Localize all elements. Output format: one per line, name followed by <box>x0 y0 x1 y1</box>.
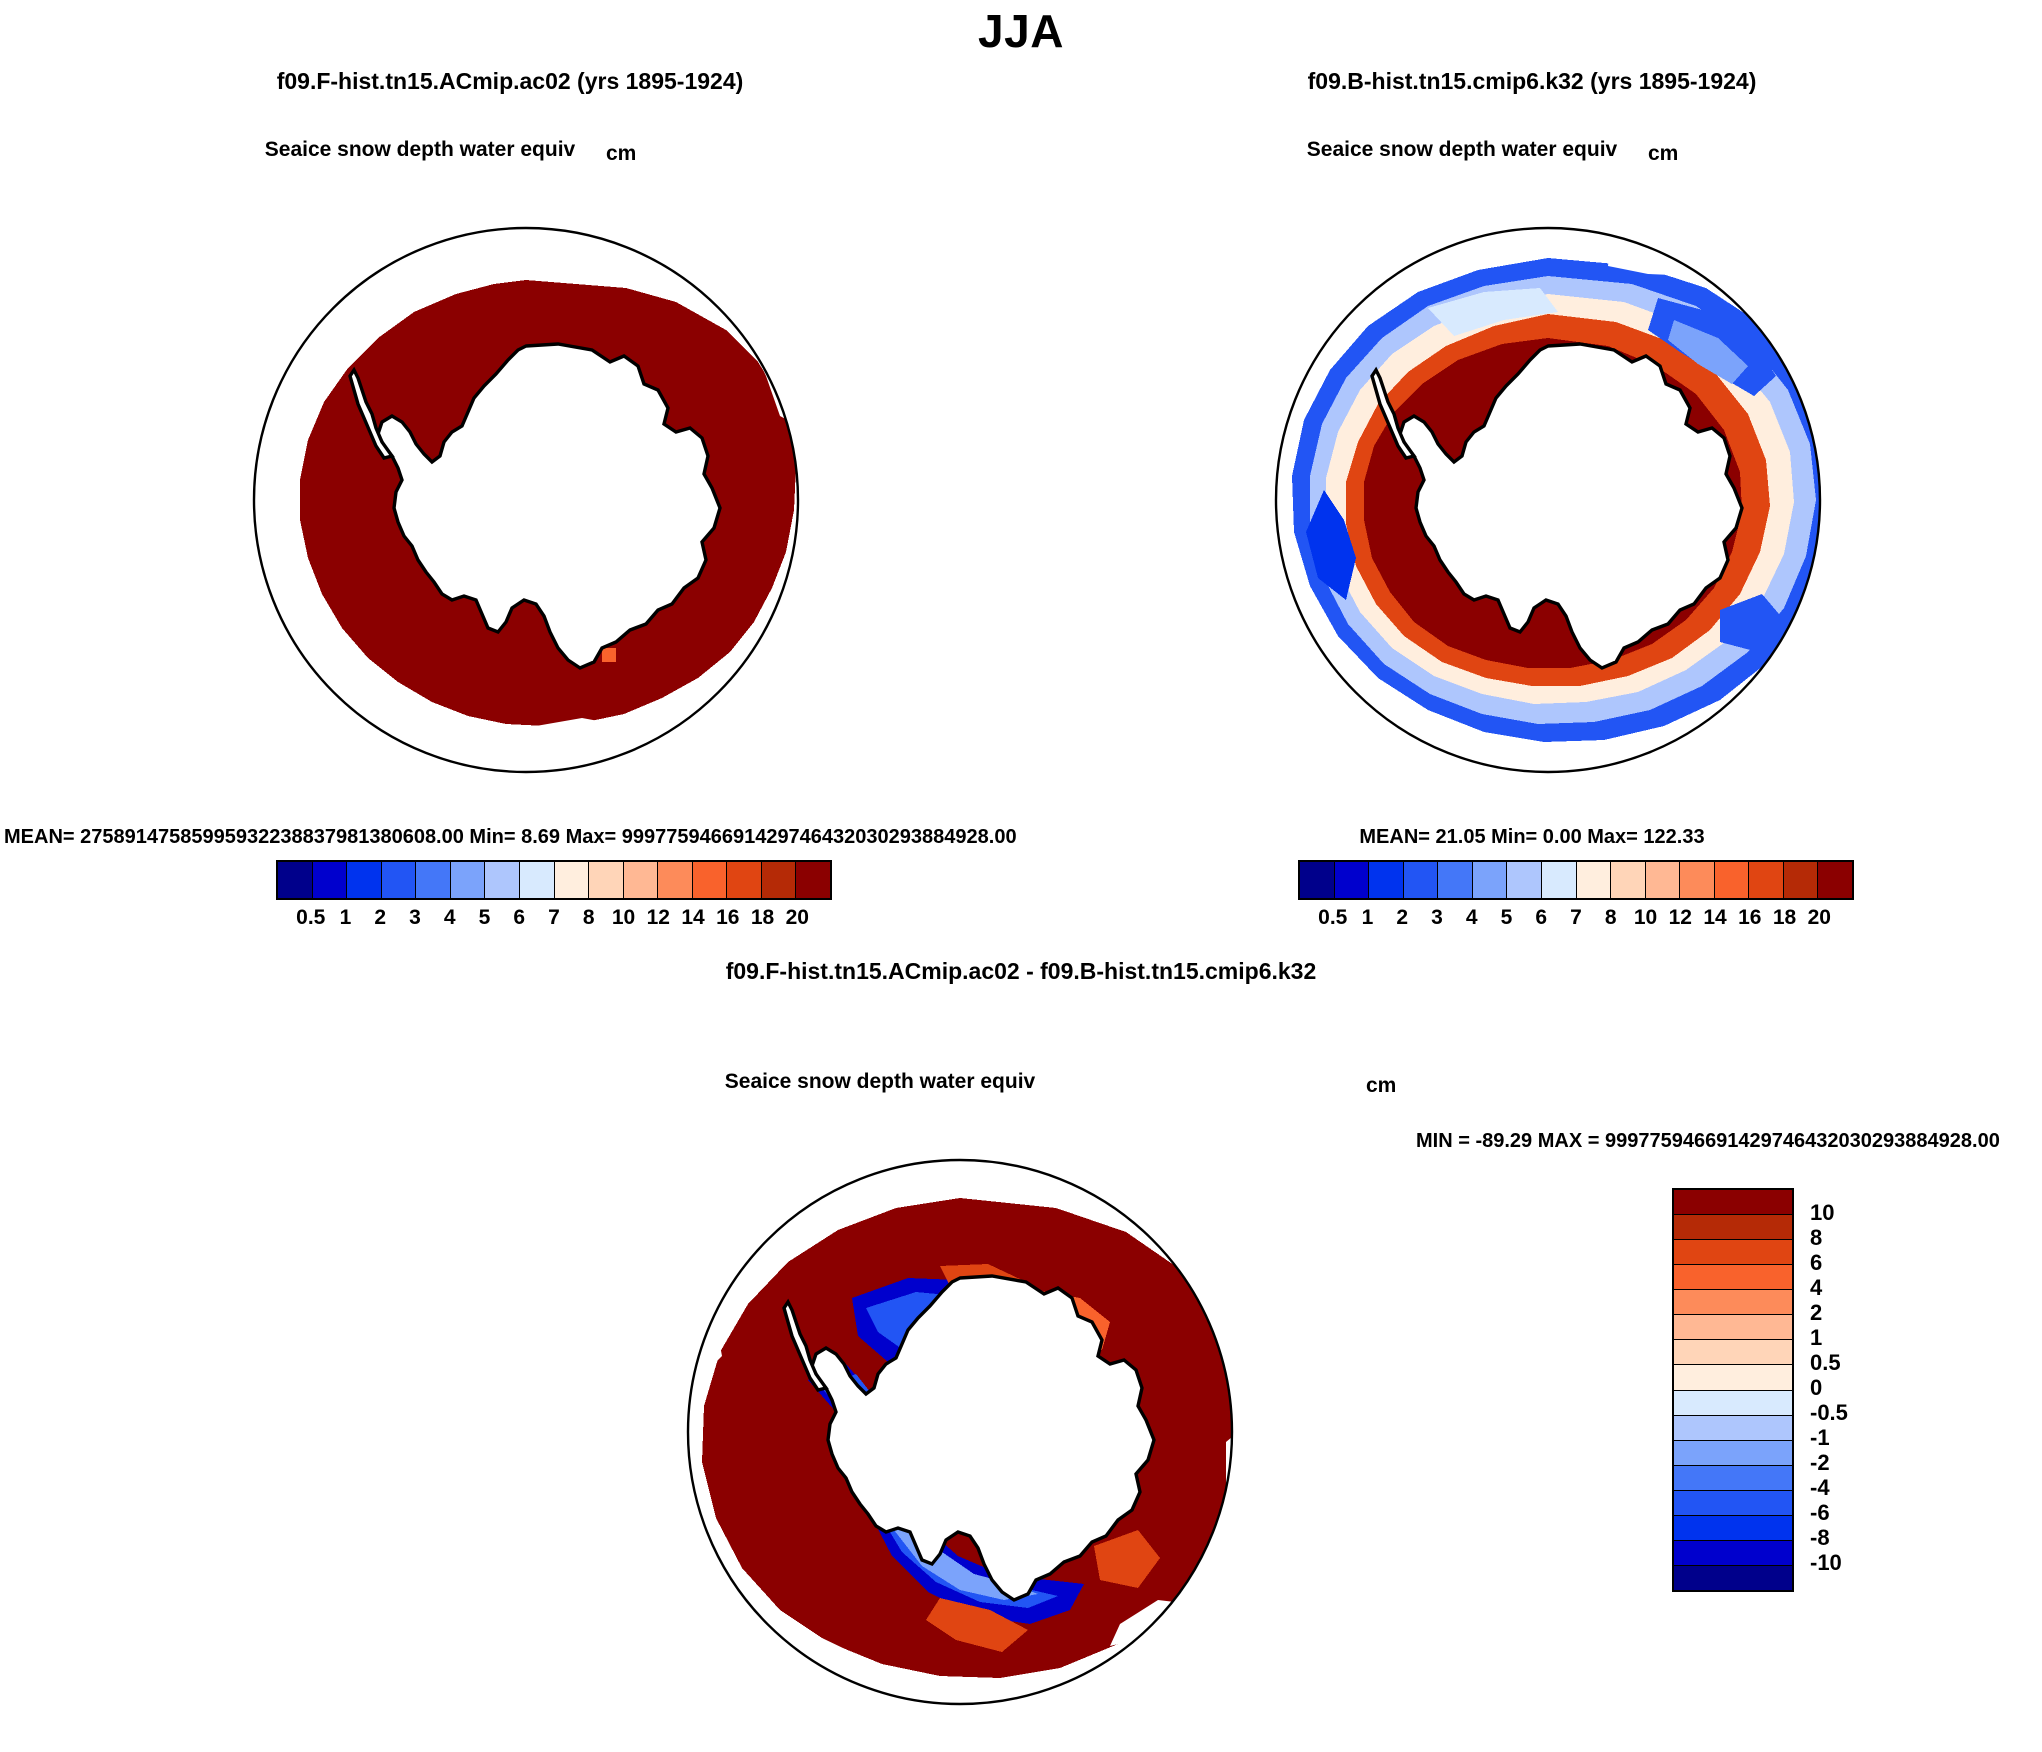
colorbar-tick-label: 5 <box>479 906 491 930</box>
colorbar-tick-label: 4 <box>1466 906 1478 930</box>
panel-left-variable-label: Seaice snow depth water equiv <box>20 138 820 162</box>
colorbar-cell <box>658 862 693 898</box>
panel-left-stats: MEAN= 27589147585995932238837981380608.0… <box>4 826 1017 849</box>
colorbar-cell <box>1335 862 1370 898</box>
colorbar-tick-label: 1 <box>340 906 352 930</box>
colorbar-tick-label: 14 <box>681 906 704 930</box>
colorbar-cell <box>1300 862 1335 898</box>
colorbar-cell <box>1674 1416 1792 1441</box>
colorbar-cell <box>1674 1391 1792 1416</box>
colorbar-tick-label: 6 <box>1535 906 1547 930</box>
colorbar-cell <box>727 862 762 898</box>
colorbar-tick-label: 4 <box>444 906 456 930</box>
colorbar-tick-label: -1 <box>1810 1425 1830 1451</box>
panel-difference-stats: MIN = -89.29 MAX = 999775946691429746432… <box>1416 1130 2000 1153</box>
colorbar-tick-label: 3 <box>1431 906 1443 930</box>
colorbar-tick-label: 8 <box>583 906 595 930</box>
colorbar-cell <box>1542 862 1577 898</box>
colorbar-cell <box>555 862 590 898</box>
colorbar-tick-label: 1 <box>1810 1325 1822 1351</box>
colorbar-tick-label: -10 <box>1810 1550 1842 1576</box>
panel-left-colorbar[interactable]: 0.512345678101214161820 <box>276 860 832 936</box>
colorbar-tick-label: 0 <box>1810 1375 1822 1401</box>
panel-difference-map[interactable] <box>640 1112 1280 1752</box>
colorbar-cell <box>1404 862 1439 898</box>
colorbar-cell <box>624 862 659 898</box>
colorbar-tick-label: 14 <box>1703 906 1726 930</box>
colorbar-cell <box>451 862 486 898</box>
colorbar-cell <box>1674 1566 1792 1590</box>
colorbar-cell <box>1674 1190 1792 1215</box>
panel-left-colorbar-swatches <box>276 860 832 900</box>
panel-left: f09.F-hist.tn15.ACmip.ac02 (yrs 1895-192… <box>0 0 1020 940</box>
colorbar-cell <box>1674 1466 1792 1491</box>
colorbar-cell <box>796 862 830 898</box>
colorbar-cell <box>1438 862 1473 898</box>
colorbar-tick-label: 16 <box>1738 906 1761 930</box>
colorbar-cell <box>762 862 797 898</box>
panel-difference-colorbar-labels: 10864210.50-0.5-1-2-4-6-8-10 <box>1804 1188 1894 1588</box>
colorbar-tick-label: 5 <box>1501 906 1513 930</box>
colorbar-tick-label: 18 <box>751 906 774 930</box>
colorbar-tick-label: -4 <box>1810 1475 1830 1501</box>
colorbar-cell <box>1680 862 1715 898</box>
colorbar-tick-label: 8 <box>1605 906 1617 930</box>
panel-left-title: f09.F-hist.tn15.ACmip.ac02 (yrs 1895-192… <box>0 68 1020 95</box>
panel-difference-map-svg <box>640 1112 1280 1752</box>
panel-difference-title: f09.F-hist.tn15.ACmip.ac02 - f09.B-hist.… <box>0 958 2042 985</box>
panel-right-colorbar-labels: 0.512345678101214161820 <box>1298 906 1854 936</box>
colorbar-tick-label: -8 <box>1810 1525 1830 1551</box>
colorbar-cell <box>1749 862 1784 898</box>
colorbar-tick-label: 12 <box>1669 906 1692 930</box>
colorbar-cell <box>1577 862 1612 898</box>
colorbar-cell <box>520 862 555 898</box>
colorbar-tick-label: -2 <box>1810 1450 1830 1476</box>
colorbar-tick-label: 18 <box>1773 906 1796 930</box>
colorbar-cell <box>1674 1265 1792 1290</box>
colorbar-tick-label: 10 <box>1634 906 1657 930</box>
colorbar-cell <box>416 862 451 898</box>
colorbar-cell <box>347 862 382 898</box>
colorbar-cell <box>1646 862 1681 898</box>
colorbar-tick-label: 10 <box>612 906 635 930</box>
colorbar-cell <box>382 862 417 898</box>
colorbar-cell <box>1674 1541 1792 1566</box>
colorbar-cell <box>313 862 348 898</box>
colorbar-cell <box>1674 1215 1792 1240</box>
colorbar-cell <box>693 862 728 898</box>
colorbar-tick-label: 8 <box>1810 1225 1822 1251</box>
colorbar-tick-label: 10 <box>1810 1200 1834 1226</box>
colorbar-tick-label: 1 <box>1362 906 1374 930</box>
colorbar-tick-label: 7 <box>548 906 560 930</box>
colorbar-cell <box>1674 1290 1792 1315</box>
colorbar-tick-label: 16 <box>716 906 739 930</box>
colorbar-cell <box>1784 862 1819 898</box>
colorbar-tick-label: 4 <box>1810 1275 1822 1301</box>
panel-right-units-label: cm <box>1648 142 1678 166</box>
colorbar-cell <box>1507 862 1542 898</box>
colorbar-cell <box>1369 862 1404 898</box>
panel-right-map[interactable] <box>1228 180 1868 820</box>
colorbar-tick-label: 2 <box>374 906 386 930</box>
colorbar-cell <box>1818 862 1852 898</box>
colorbar-cell <box>1674 1240 1792 1265</box>
colorbar-cell <box>278 862 313 898</box>
colorbar-cell <box>1674 1441 1792 1466</box>
colorbar-tick-label: 0.5 <box>1810 1350 1841 1376</box>
colorbar-tick-label: 20 <box>1808 906 1831 930</box>
panel-difference-colorbar-swatches <box>1672 1188 1794 1592</box>
colorbar-tick-label: 6 <box>1810 1250 1822 1276</box>
colorbar-cell <box>1473 862 1508 898</box>
colorbar-tick-label: 0.5 <box>296 906 325 930</box>
panel-left-units-label: cm <box>606 142 636 166</box>
colorbar-tick-label: 7 <box>1570 906 1582 930</box>
panel-right-map-svg <box>1228 180 1868 820</box>
colorbar-tick-label: 20 <box>786 906 809 930</box>
colorbar-cell <box>1674 1365 1792 1390</box>
colorbar-cell <box>1611 862 1646 898</box>
colorbar-tick-label: 12 <box>647 906 670 930</box>
panel-difference-units-label: cm <box>1366 1074 1396 1098</box>
panel-left-map[interactable] <box>206 180 846 820</box>
panel-right-colorbar-swatches <box>1298 860 1854 900</box>
colorbar-tick-label: -6 <box>1810 1500 1830 1526</box>
colorbar-cell <box>1715 862 1750 898</box>
panel-right-stats: MEAN= 21.05 Min= 0.00 Max= 122.33 <box>1022 826 2042 849</box>
colorbar-cell <box>485 862 520 898</box>
colorbar-cell <box>1674 1315 1792 1340</box>
panel-difference-variable-label: Seaice snow depth water equiv <box>480 1070 1280 1094</box>
panel-difference-colorbar[interactable]: 10864210.50-0.5-1-2-4-6-8-10 <box>1672 1188 1894 1588</box>
colorbar-cell <box>1674 1516 1792 1541</box>
colorbar-cell <box>1674 1340 1792 1365</box>
colorbar-tick-label: -0.5 <box>1810 1400 1848 1426</box>
colorbar-tick-label: 3 <box>409 906 421 930</box>
panel-difference: f09.F-hist.tn15.ACmip.ac02 - f09.B-hist.… <box>0 940 2042 1665</box>
colorbar-tick-label: 6 <box>513 906 525 930</box>
colorbar-cell <box>589 862 624 898</box>
panel-right-colorbar[interactable]: 0.512345678101214161820 <box>1298 860 1854 936</box>
colorbar-tick-label: 0.5 <box>1318 906 1347 930</box>
panel-right-title: f09.B-hist.tn15.cmip6.k32 (yrs 1895-1924… <box>1022 68 2042 95</box>
panel-left-map-svg <box>206 180 846 820</box>
panel-left-colorbar-labels: 0.512345678101214161820 <box>276 906 832 936</box>
panel-right: f09.B-hist.tn15.cmip6.k32 (yrs 1895-1924… <box>1022 0 2042 940</box>
colorbar-tick-label: 2 <box>1396 906 1408 930</box>
panel-right-variable-label: Seaice snow depth water equiv <box>1062 138 1862 162</box>
colorbar-tick-label: 2 <box>1810 1300 1822 1326</box>
colorbar-cell <box>1674 1491 1792 1516</box>
